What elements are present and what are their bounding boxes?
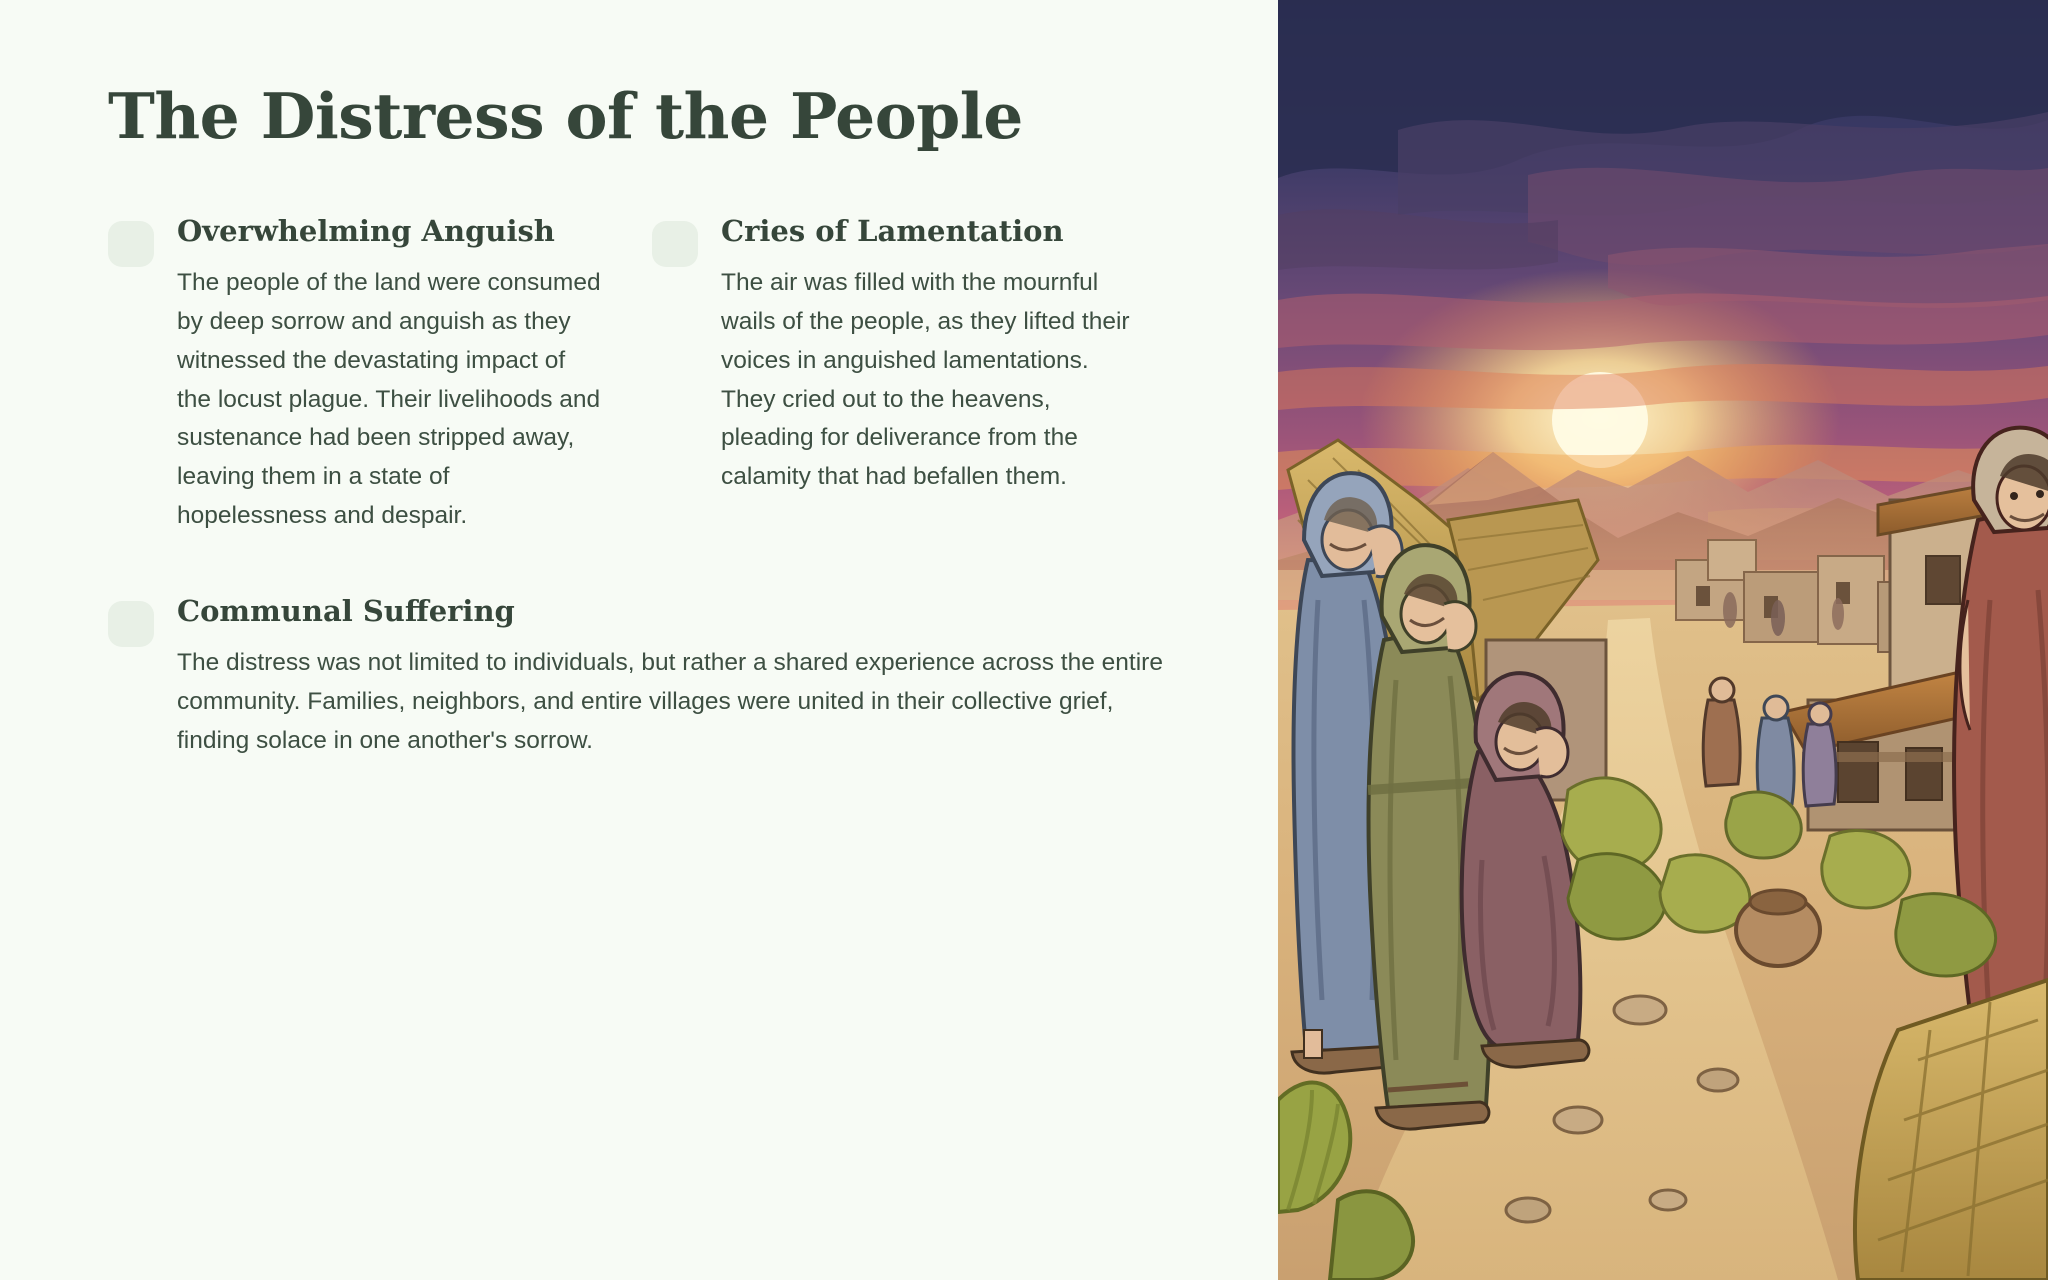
point-text: The people of the land were consumed by …: [177, 264, 604, 535]
point-body: Cries of Lamentation The air was filled …: [721, 213, 1148, 496]
point-heading: Communal Suffering: [177, 593, 1188, 630]
point-text: The distress was not limited to individu…: [177, 644, 1187, 760]
bullet-square-icon: [108, 601, 154, 647]
illustration-svg: [1278, 0, 2048, 1280]
illustration-sunset-village: [1278, 0, 2048, 1280]
slide-root: The Distress of the People Overwhelming …: [0, 0, 2048, 1280]
point-cries-of-lamentation: Cries of Lamentation The air was filled …: [652, 213, 1148, 496]
bullet-square-icon: [108, 221, 154, 267]
page-title: The Distress of the People: [108, 82, 1188, 151]
points-columns: Overwhelming Anguish The people of the l…: [108, 213, 1188, 535]
text-panel: The Distress of the People Overwhelming …: [0, 0, 1278, 1280]
bullet-square-icon: [652, 221, 698, 267]
point-heading: Cries of Lamentation: [721, 213, 1148, 250]
point-overwhelming-anguish: Overwhelming Anguish The people of the l…: [108, 213, 604, 535]
point-body: Communal Suffering The distress was not …: [177, 593, 1188, 760]
point-body: Overwhelming Anguish The people of the l…: [177, 213, 604, 535]
point-text: The air was filled with the mournful wai…: [721, 264, 1148, 496]
point-heading: Overwhelming Anguish: [177, 213, 604, 250]
point-communal-suffering: Communal Suffering The distress was not …: [108, 593, 1188, 760]
points-column-right: Cries of Lamentation The air was filled …: [652, 213, 1148, 496]
points-column-left: Overwhelming Anguish The people of the l…: [108, 213, 604, 535]
